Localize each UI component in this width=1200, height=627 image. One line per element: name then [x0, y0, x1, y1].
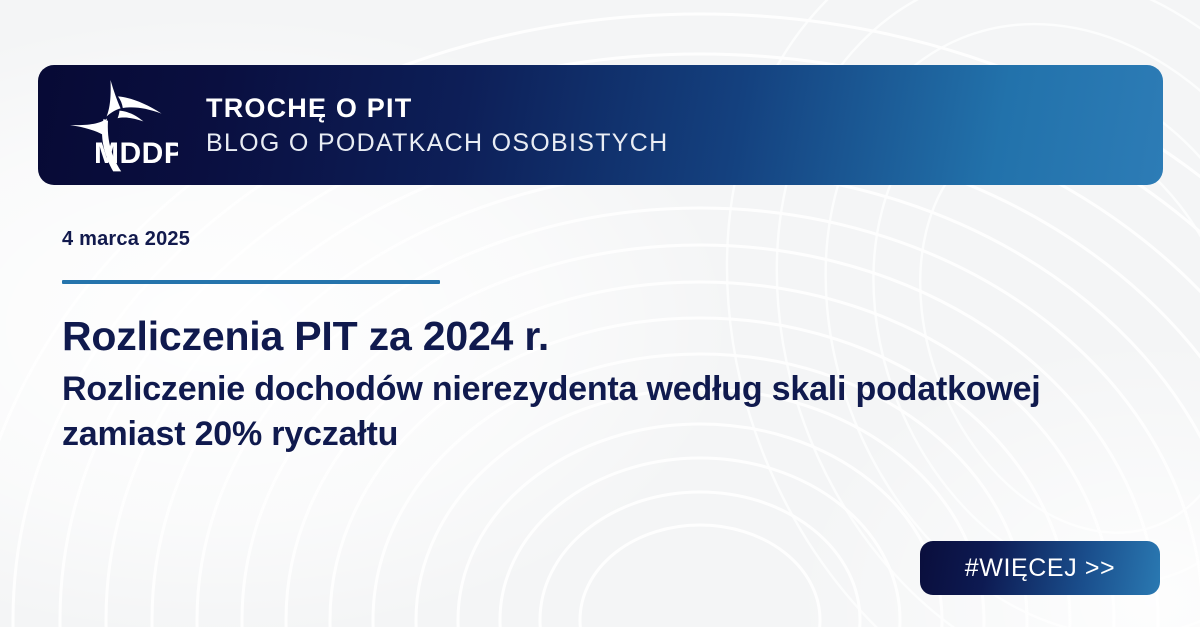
header-text-block: TROCHĘ O PIT BLOG O PODATKACH OSOBISTYCH: [206, 95, 669, 156]
post-date: 4 marca 2025: [62, 228, 1122, 251]
blog-post-share-card: MDDP TROCHĘ O PIT BLOG O PODATKACH OSOBI…: [0, 0, 1200, 627]
mddp-wordmark: MDDP: [94, 137, 178, 170]
brand-header-bar: MDDP TROCHĘ O PIT BLOG O PODATKACH OSOBI…: [38, 65, 1163, 185]
blog-name: TROCHĘ O PIT: [206, 95, 669, 122]
post-subtitle: Rozliczenie dochodów nierezydenta według…: [62, 367, 1062, 457]
more-button[interactable]: #WIĘCEJ >>: [920, 541, 1160, 595]
blog-tagline: BLOG O PODATKACH OSOBISTYCH: [206, 131, 669, 156]
post-title: Rozliczenia PIT za 2024 r.: [62, 314, 1122, 359]
title-divider: [62, 280, 440, 284]
mddp-logo: MDDP: [66, 77, 178, 173]
post-content: 4 marca 2025 Rozliczenia PIT za 2024 r. …: [62, 228, 1122, 457]
